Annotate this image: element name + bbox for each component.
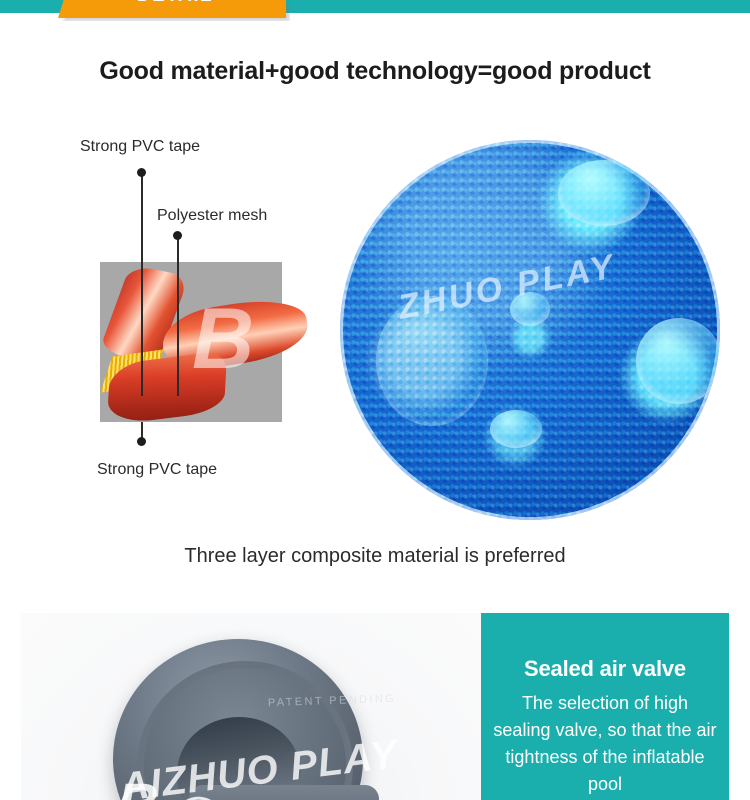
- waterproof-fabric-photo: ZHUO PLAY: [340, 140, 720, 520]
- detail-ribbon: DETAIL: [0, 0, 750, 22]
- leader-dot-pvc-bottom: [137, 437, 146, 446]
- sealed-air-valve-section: PATENT PENDING B AIZHUO PLAY Sealed air …: [21, 613, 729, 800]
- leader-dot-pvc-top: [137, 168, 146, 177]
- valve-panel-body: The selection of high sealing valve, so …: [493, 690, 717, 798]
- brand-watermark-logo: B: [192, 296, 254, 382]
- valve-panel-title: Sealed air valve: [493, 656, 717, 682]
- composite-material-diagram: B Strong PVC tape Polyester mesh Strong …: [60, 130, 360, 500]
- leader-dot-mesh: [173, 231, 182, 240]
- callout-label-pvc-top: Strong PVC tape: [80, 138, 200, 156]
- callout-label-pvc-bottom: Strong PVC tape: [97, 461, 217, 479]
- water-droplet: [558, 160, 650, 226]
- water-droplet: [636, 318, 720, 404]
- diagram-caption: Three layer composite material is prefer…: [0, 545, 750, 568]
- water-droplet: [490, 410, 542, 448]
- material-layers-photo: B: [100, 262, 282, 422]
- material-layers-art: B: [100, 262, 282, 422]
- leader-line-pvc-top: [141, 175, 143, 396]
- air-valve-photo: PATENT PENDING B AIZHUO PLAY: [21, 613, 481, 800]
- leader-line-mesh: [177, 238, 179, 396]
- callout-label-mesh: Polyester mesh: [157, 207, 267, 225]
- page-title: Good material+good technology=good produ…: [0, 57, 750, 86]
- valve-description-panel: Sealed air valve The selection of high s…: [481, 613, 729, 800]
- ribbon-orange-tab: DETAIL: [58, 0, 286, 18]
- ribbon-title: DETAIL: [64, 0, 286, 18]
